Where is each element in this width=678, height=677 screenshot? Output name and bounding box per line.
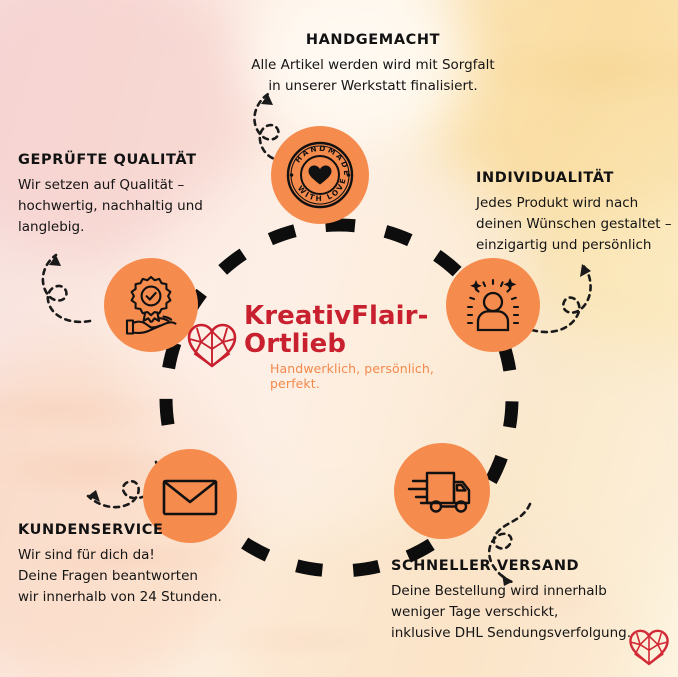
title-gepruefte-qualitaet: GEPRÜFTE QUALITÄT: [18, 152, 248, 168]
block-kundenservice: KUNDENSERVICE Wir sind für dich da! Dein…: [18, 522, 258, 608]
body-handgemacht: Alle Artikel werden wird mit Sorgfalt in…: [218, 55, 528, 97]
body-gepruefte-qualitaet: Wir setzen auf Qualität – hochwertig, na…: [18, 175, 248, 238]
title-individualitaet: INDIVIDUALITÄT: [476, 170, 678, 186]
hub-handgemacht[interactable]: HANDMADE WITH LOVE: [271, 126, 369, 224]
envelope-icon: [159, 465, 221, 527]
person-sparkle-icon: [460, 272, 526, 338]
block-gepruefte-qualitaet: GEPRÜFTE QUALITÄT Wir setzen auf Qualitä…: [18, 152, 248, 238]
brand-name: KreativFlair-Ortlieb: [244, 303, 454, 358]
block-individualitaet: INDIVIDUALITÄT Jedes Produkt wird nach d…: [476, 170, 678, 256]
curly-arrow-qualitaet: [20, 245, 106, 329]
infographic-canvas: HANDMADE WITH LOVE: [0, 0, 678, 677]
brand-tagline: Handwerklich, persönlich, perfekt.: [270, 361, 454, 391]
hub-gepruefte-qualitaet[interactable]: [104, 258, 198, 352]
title-schneller-versand: SCHNELLER VERSAND: [391, 558, 678, 574]
handmade-with-love-stamp-icon: HANDMADE WITH LOVE: [283, 138, 357, 212]
watermark-geometric-heart-icon: [628, 627, 670, 671]
title-handgemacht: HANDGEMACHT: [218, 32, 528, 48]
curly-arrow-individualitaet: [528, 252, 618, 340]
brand-logo[interactable]: KreativFlair-Ortlieb Handwerklich, persö…: [186, 316, 454, 378]
body-kundenservice: Wir sind für dich da! Deine Fragen beant…: [18, 545, 258, 608]
title-kundenservice: KUNDENSERVICE: [18, 522, 258, 538]
hand-quality-badge-icon: [118, 272, 184, 338]
block-handgemacht: HANDGEMACHT Alle Artikel werden wird mit…: [218, 32, 528, 97]
geometric-heart-icon: [186, 321, 238, 373]
delivery-truck-icon: [407, 461, 477, 521]
hub-schneller-versand[interactable]: [394, 443, 490, 539]
hub-individualitaet[interactable]: [446, 258, 540, 352]
body-individualitaet: Jedes Produkt wird nach deinen Wünschen …: [476, 193, 678, 256]
